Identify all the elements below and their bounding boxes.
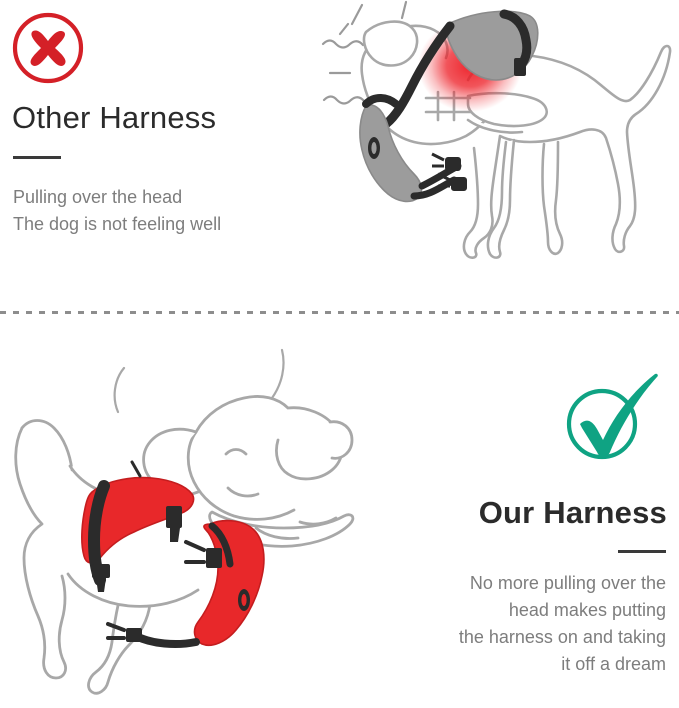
- check-mark-circle-icon: [556, 372, 660, 472]
- other-harness-description: Pulling over the head The dog is not fee…: [13, 184, 221, 238]
- our-harness-description: No more pulling over the head makes putt…: [366, 570, 666, 678]
- section-divider: [0, 311, 679, 314]
- harness-buckle-upper: [166, 506, 182, 542]
- harness-comparison-infographic: Other Harness Pulling over the head The …: [0, 0, 679, 708]
- other-harness-panel: Other Harness Pulling over the head The …: [0, 0, 679, 312]
- dog-with-grey-harness-over-head-illustration: [318, 0, 679, 300]
- heading-rule-our: [618, 550, 666, 553]
- dog-with-red-step-in-harness-illustration: [0, 336, 375, 696]
- page-title-other-harness: Other Harness: [12, 100, 216, 136]
- page-title-our-harness: Our Harness: [479, 495, 667, 531]
- x-mark-circle-icon: [8, 8, 88, 88]
- heading-rule-other: [13, 156, 61, 159]
- dog-body-outline: [16, 396, 353, 693]
